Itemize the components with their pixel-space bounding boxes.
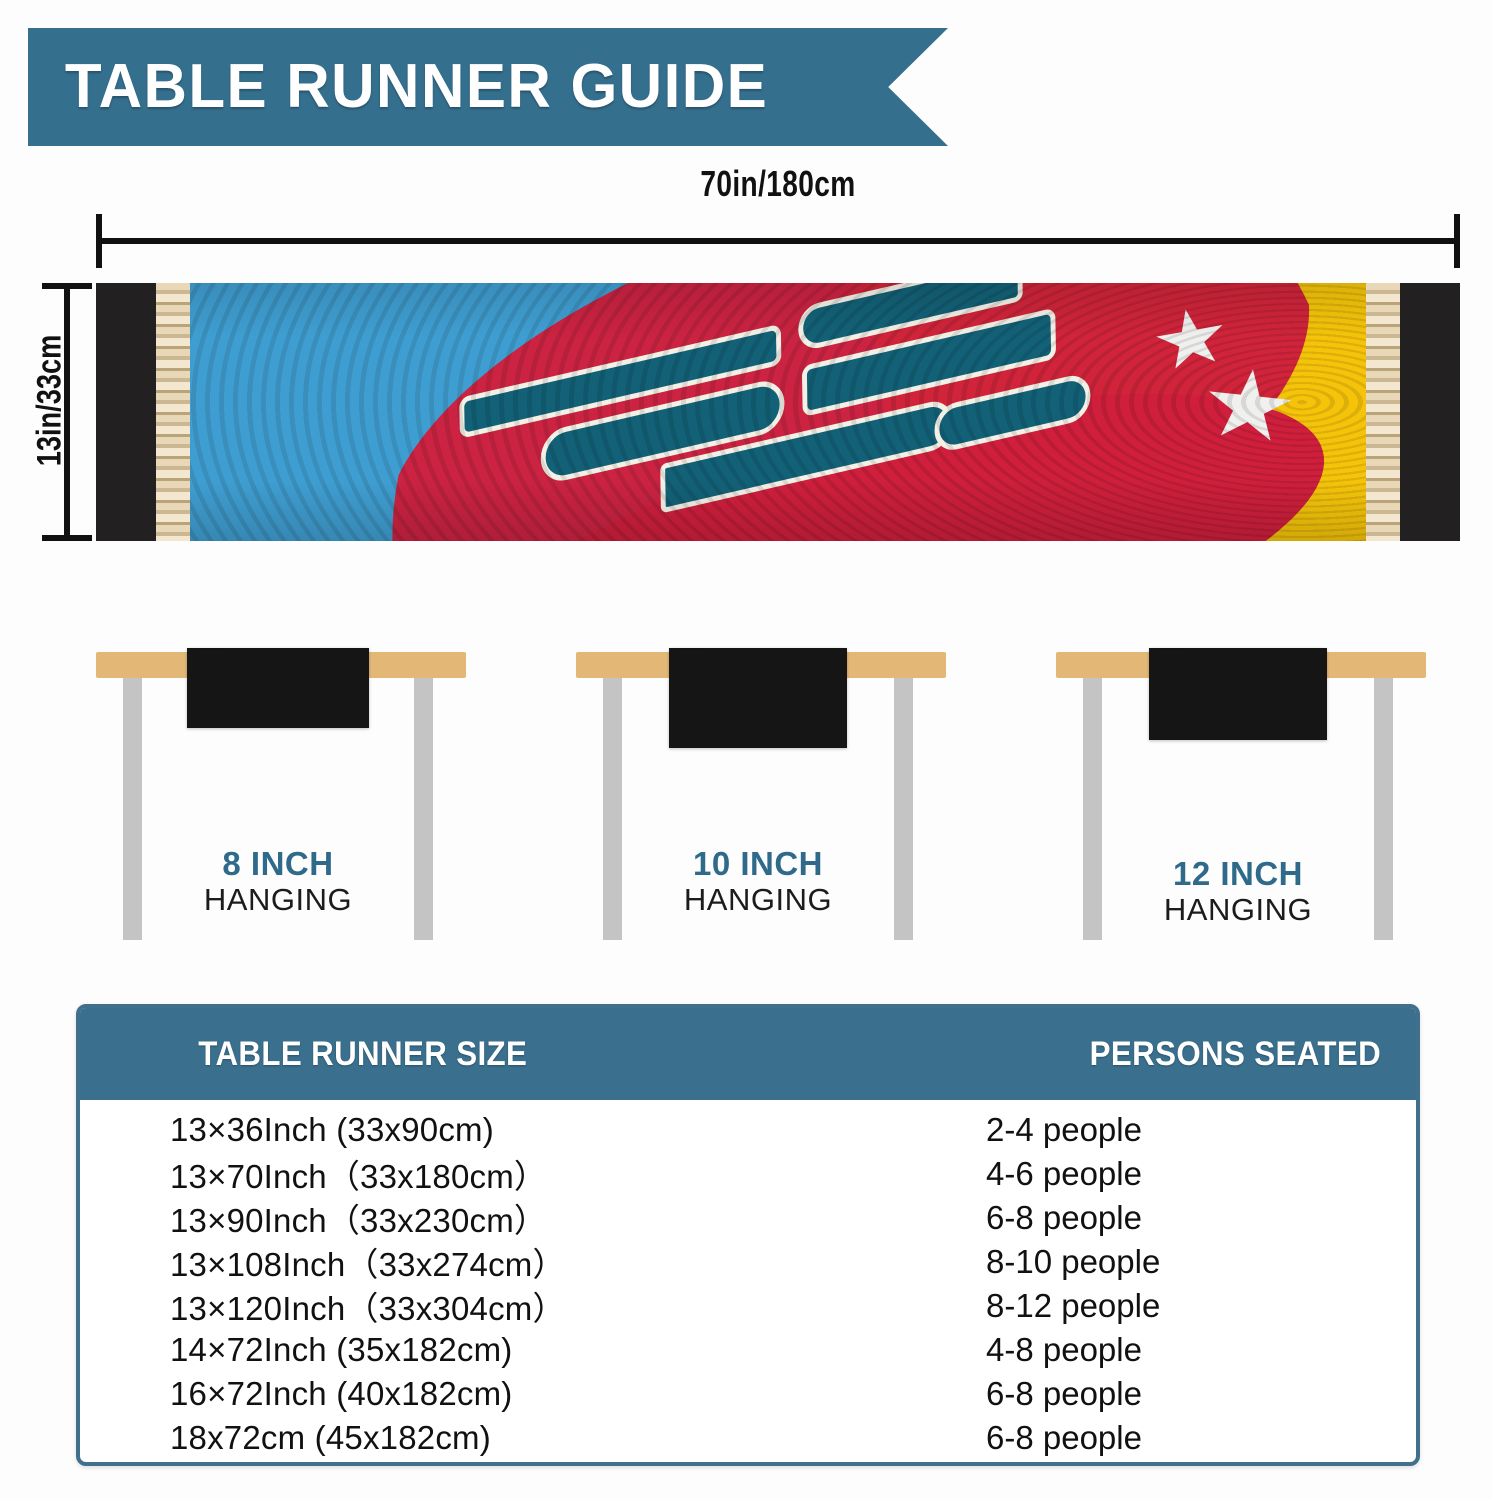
diagram-caption: 10 INCH HANGING [558,846,958,918]
draped-runner-border [187,648,369,728]
runner-distressed-edge-right [1366,283,1400,541]
hanging-label: HANGING [78,883,478,918]
table-row: 18x72cm (45x182cm) 6-8 people [80,1416,1416,1460]
cell-size: 13×108Inch（33x274cm） [80,1238,940,1286]
cell-persons: 6-8 people [940,1199,1416,1237]
cell-size: 13×120Inch（33x304cm） [80,1282,940,1330]
table-row: 16×72Inch (40x182cm) 6-8 people [80,1372,1416,1416]
runner-ring-texture [156,283,1400,541]
cell-persons: 6-8 people [940,1375,1416,1413]
runner-width-label: 70in/180cm [246,163,1310,205]
hanging-length-value: 8 INCH [78,846,478,883]
hanging-length-value: 10 INCH [558,846,958,883]
table-row: 13×90Inch（33x230cm） 6-8 people [80,1196,1416,1240]
draped-runner-border [669,648,847,748]
cell-persons: 4-8 people [940,1331,1416,1369]
height-dimension-line [42,283,92,541]
page-title: TABLE RUNNER GUIDE [28,56,768,118]
table-row: 13×120Inch（33x304cm） 8-12 people [80,1284,1416,1328]
hanging-length-value: 12 INCH [1038,856,1438,893]
table-row: 13×108Inch（33x274cm） 8-10 people [80,1240,1416,1284]
draped-runner-border [1149,648,1327,740]
cell-size: 18x72cm (45x182cm) [80,1419,940,1457]
runner-product-image [96,283,1460,541]
cell-size: 16×72Inch (40x182cm) [80,1375,940,1413]
cell-size: 13×90Inch（33x230cm） [80,1194,940,1242]
diagram-caption: 12 INCH HANGING [1038,856,1438,928]
cell-size: 13×36Inch (33x90cm) [80,1111,940,1149]
table-row: 14×72Inch (35x182cm) 4-8 people [80,1328,1416,1372]
hanging-label: HANGING [558,883,958,918]
hanging-length-diagrams: 8 INCH HANGING 10 INCH HANGING [78,630,1438,940]
cell-size: 14×72Inch (35x182cm) [80,1331,940,1369]
height-dimension-cap-bottom [42,535,92,541]
draped-runner [669,648,847,748]
table-row: 13×36Inch (33x90cm) 2-4 people [80,1108,1416,1152]
width-dimension-cap-right [1454,214,1460,268]
size-chart-table: TABLE RUNNER SIZE PERSONS SEATED 13×36In… [76,1004,1420,1466]
width-dimension-rule [96,238,1460,244]
runner-distressed-edge-left [156,283,190,541]
cell-persons: 8-10 people [940,1243,1416,1281]
column-header-persons: PERSONS SEATED [1090,1035,1381,1074]
size-chart-body: 13×36Inch (33x90cm) 2-4 people 13×70Inch… [80,1100,1416,1460]
cell-size: 13×70Inch（33x180cm） [80,1150,940,1198]
diagram-12-inch-hanging: 12 INCH HANGING [1038,630,1438,940]
draped-runner [187,648,369,728]
diagram-caption: 8 INCH HANGING [78,846,478,918]
cell-persons: 4-6 people [940,1155,1416,1193]
header-banner: TABLE RUNNER GUIDE [28,28,948,146]
column-header-size: TABLE RUNNER SIZE [198,1035,527,1074]
runner-artwork [156,283,1400,541]
height-dimension-rule [64,283,70,541]
draped-runner [1149,648,1327,740]
table-runner-guide-infographic: TABLE RUNNER GUIDE 70in/180cm 13in/33cm [0,0,1493,1500]
hanging-label: HANGING [1038,893,1438,928]
width-dimension-line [96,214,1460,268]
size-chart-header-row: TABLE RUNNER SIZE PERSONS SEATED [80,1008,1416,1100]
diagram-10-inch-hanging: 10 INCH HANGING [558,630,958,940]
cell-persons: 6-8 people [940,1419,1416,1457]
cell-persons: 2-4 people [940,1111,1416,1149]
diagram-8-inch-hanging: 8 INCH HANGING [78,630,478,940]
table-row: 13×70Inch（33x180cm） 4-6 people [80,1152,1416,1196]
cell-persons: 8-12 people [940,1287,1416,1325]
